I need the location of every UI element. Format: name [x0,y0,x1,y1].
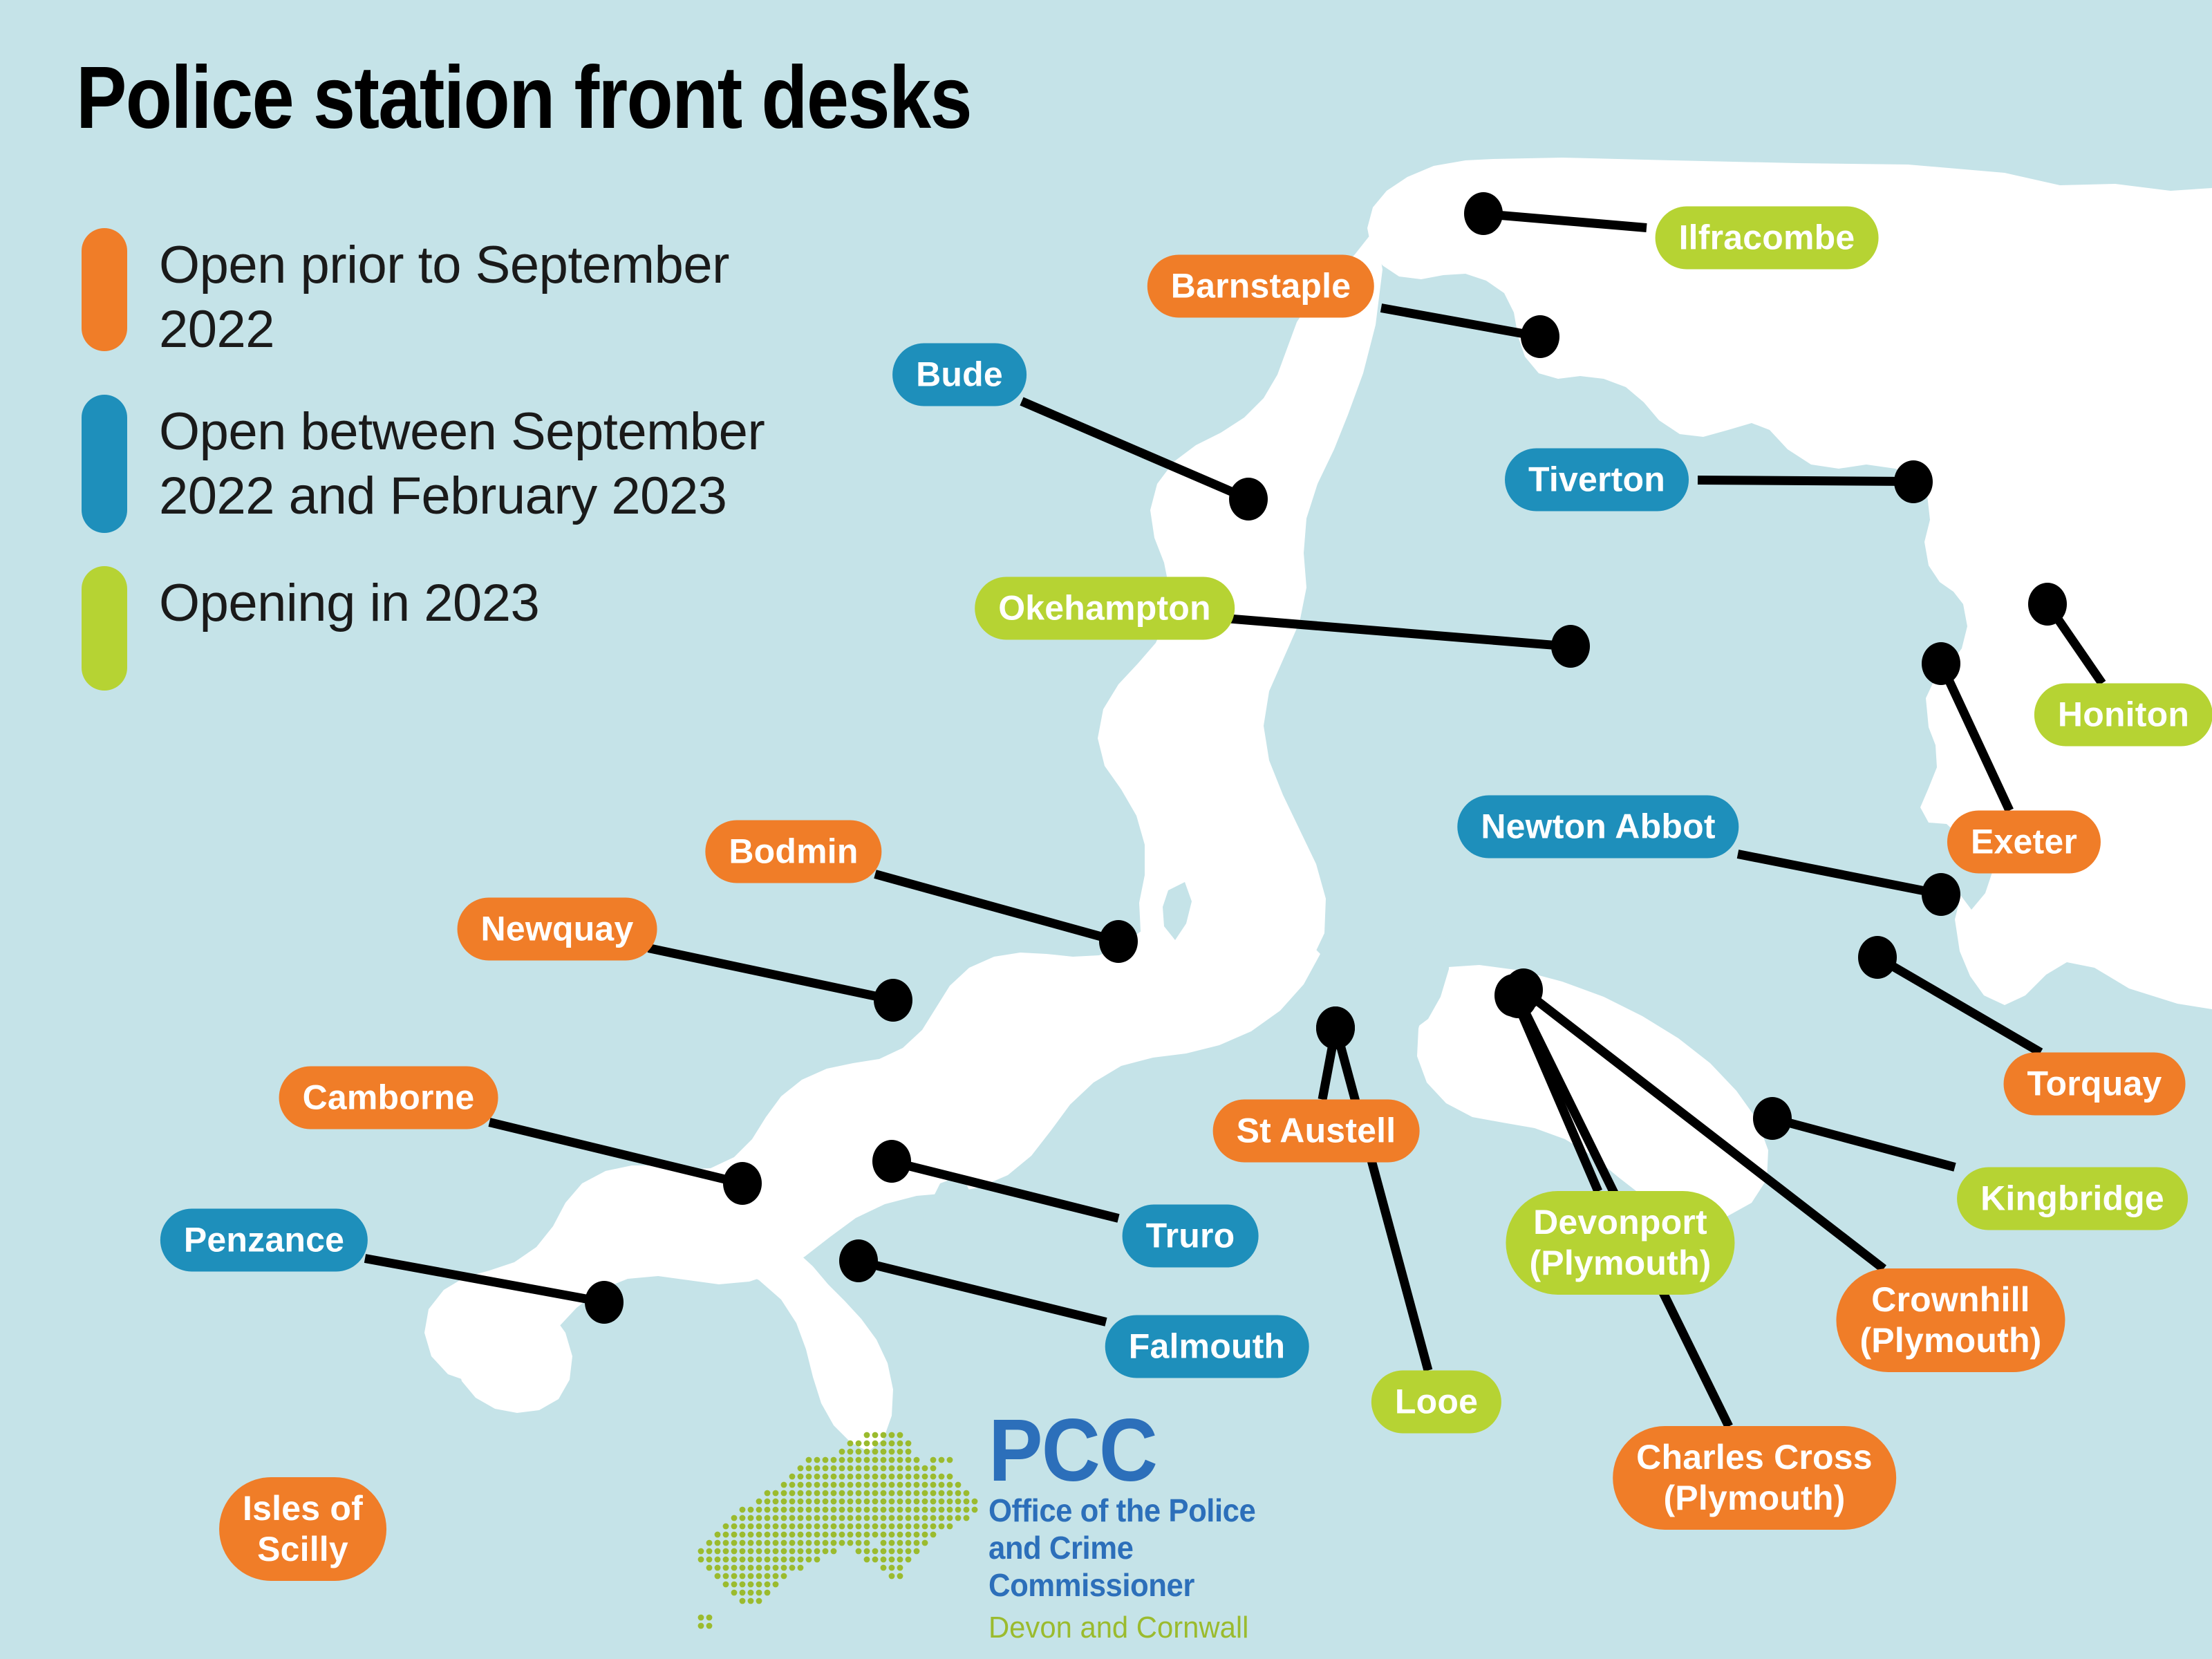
station-label-truro[interactable]: Truro [1123,1205,1259,1268]
legend-item-orange: Open prior to September 2022 [82,228,856,362]
station-label-devonport[interactable]: Devonport (Plymouth) [1506,1191,1734,1295]
map-pin[interactable] [839,1239,878,1282]
station-label-newquay[interactable]: Newquay [458,898,657,961]
station-label-exeter[interactable]: Exeter [1947,811,2101,874]
map-pin[interactable] [2028,583,2067,626]
pcc-dotted-map-icon [691,1424,982,1631]
station-label-ilfracombe[interactable]: Ilfracombe [1656,207,1879,270]
page-title: Police station front desks [76,54,971,142]
station-label-barnstaple[interactable]: Barnstaple [1147,255,1374,318]
station-label-charles-cross[interactable]: Charles Cross (Plymouth) [1613,1426,1896,1530]
legend-swatch-green [82,566,127,691]
legend: Open prior to September 2022 Open betwee… [82,228,856,724]
station-label-falmouth[interactable]: Falmouth [1105,1315,1309,1378]
station-label-okehampton[interactable]: Okehampton [975,577,1235,640]
station-label-crownhill[interactable]: Crownhill (Plymouth) [1836,1268,2065,1372]
station-label-camborne[interactable]: Camborne [279,1067,498,1130]
map-pin[interactable] [1922,873,1960,916]
station-label-bodmin[interactable]: Bodmin [705,821,881,883]
map-pin[interactable] [1894,460,1933,503]
infographic-root: Police station front desks Open prior to… [0,0,2212,1659]
map-pin[interactable] [723,1162,762,1205]
map-pin[interactable] [874,979,912,1022]
station-label-honiton[interactable]: Honiton [2034,684,2212,747]
station-label-newton-abbot[interactable]: Newton Abbot [1457,796,1738,859]
pcc-acronym: PCC [988,1410,1306,1492]
pcc-logo: PCC Office of the Police and Crime Commi… [691,1410,1327,1638]
pcc-line-1: Office of the Police [988,1492,1317,1529]
map-pin[interactable] [1922,642,1960,685]
station-label-tiverton[interactable]: Tiverton [1505,449,1689,512]
station-label-penzance[interactable]: Penzance [160,1209,368,1272]
station-label-st-austell[interactable]: St Austell [1213,1100,1420,1163]
connector-line [1698,476,1913,486]
station-label-torquay[interactable]: Torquay [2004,1053,2186,1116]
map-pin[interactable] [872,1140,911,1183]
station-label-looe[interactable]: Looe [1371,1371,1501,1434]
map-pin[interactable] [1499,975,1537,1018]
legend-item-blue: Open between September 2022 and February… [82,395,856,533]
map-pin[interactable] [1229,478,1268,521]
legend-swatch-blue [82,395,127,533]
station-label-kingbridge[interactable]: Kingbridge [1957,1168,2188,1230]
map-pin[interactable] [1316,1006,1355,1049]
map-pin[interactable] [585,1281,624,1324]
legend-item-green: Opening in 2023 [82,566,856,691]
legend-label-green: Opening in 2023 [159,566,539,636]
station-label-isles-of[interactable]: Isles of Scilly [219,1477,386,1581]
map-pin[interactable] [1464,192,1503,235]
legend-label-orange: Open prior to September 2022 [159,228,856,362]
map-pin[interactable] [1858,936,1897,979]
pcc-region: Devon and Cornwall [988,1610,1317,1647]
map-pin[interactable] [1099,920,1138,963]
map-pin[interactable] [1753,1097,1792,1140]
map-pin[interactable] [1551,625,1590,668]
pcc-line-2: and Crime Commissioner [988,1529,1317,1604]
legend-label-blue: Open between September 2022 and February… [159,395,856,528]
map-pin[interactable] [1521,315,1559,358]
pcc-logo-text: PCC Office of the Police and Crime Commi… [988,1410,1334,1646]
station-label-bude[interactable]: Bude [892,344,1027,406]
land-shape [1367,158,2212,1009]
legend-swatch-orange [82,228,127,351]
